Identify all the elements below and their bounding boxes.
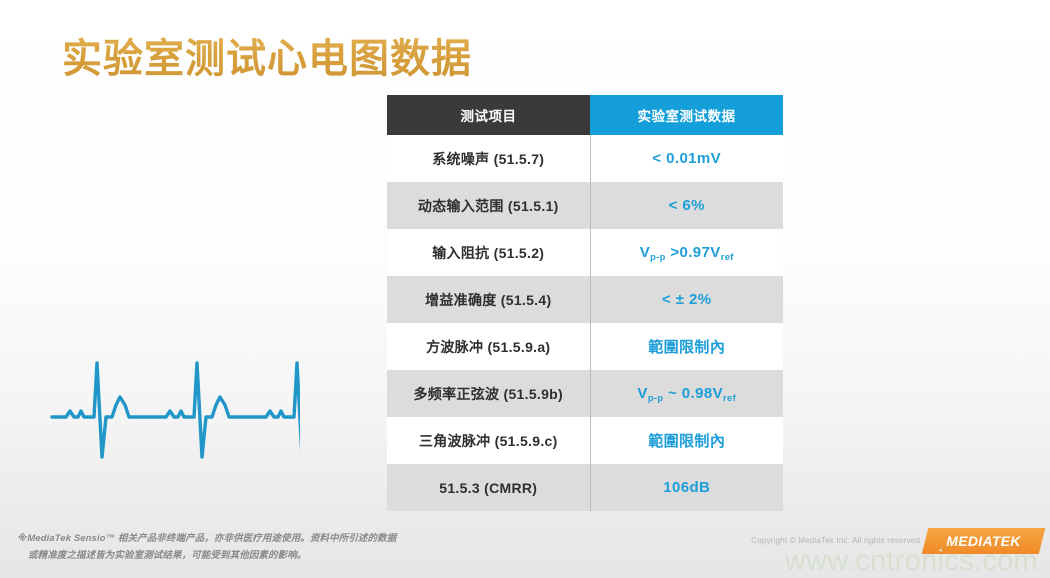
cell-test-item: 三角波脉冲 (51.5.9.c) (387, 417, 590, 464)
cell-test-item: 方波脉冲 (51.5.9.a) (387, 323, 590, 370)
table-row: 增益准确度 (51.5.4)< ± 2% (387, 276, 783, 323)
table-row: 系统噪声 (51.5.7)< 0.01mV (387, 135, 783, 182)
value-subscript-2: ref (721, 252, 734, 262)
column-header-test-item: 测试项目 (387, 95, 590, 135)
table-row: 方波脉冲 (51.5.9.a)範圍限制內 (387, 323, 783, 370)
cell-test-item: 多频率正弦波 (51.5.9b) (387, 370, 590, 417)
cell-test-item: 增益准确度 (51.5.4) (387, 276, 590, 323)
value-middle: ~ 0.98V (663, 385, 723, 402)
table-row: 输入阻抗 (51.5.2)Vp-p >0.97Vref (387, 229, 783, 276)
value-subscript-2: ref (723, 393, 736, 403)
table-row: 三角波脉冲 (51.5.9.c)範圍限制內 (387, 417, 783, 464)
table-row: 动态输入范围 (51.5.1)< 6% (387, 182, 783, 229)
disclaimer-line-1: ※MediaTek Sensio™ 相关产品非终端产品，亦非供医疗用途使用。资料… (18, 533, 396, 544)
value-prefix: V (640, 244, 650, 261)
value-subscript-1: p-p (648, 393, 664, 403)
cell-test-value: Vp-p >0.97Vref (590, 229, 783, 276)
column-header-test-value: 实验室测试数据 (590, 95, 783, 135)
value-prefix: V (637, 385, 647, 402)
cell-test-item: 输入阻抗 (51.5.2) (387, 229, 590, 276)
value-subscript-1: p-p (650, 252, 666, 262)
cell-test-item: 动态输入范围 (51.5.1) (387, 182, 590, 229)
cell-test-value: 範圍限制內 (590, 323, 783, 370)
cell-test-value: < 6% (590, 182, 783, 229)
cell-test-value: Vp-p ~ 0.98Vref (590, 370, 783, 417)
slide-canvas: 实验室测试心电图数据 测试项目 实验室测试数据 系统噪声 (51.5.7)< 0… (0, 0, 1050, 578)
table-body: 系统噪声 (51.5.7)< 0.01mV动态输入范围 (51.5.1)< 6%… (387, 135, 783, 511)
cell-test-value: < 0.01mV (590, 135, 783, 182)
lab-test-results-table: 测试项目 实验室测试数据 系统噪声 (51.5.7)< 0.01mV动态输入范围… (387, 95, 783, 511)
cell-test-item: 系统噪声 (51.5.7) (387, 135, 590, 182)
site-watermark: www.cntronics.com (785, 545, 1038, 578)
copyright-text: Copyright © MediaTek Inc. All rights res… (751, 536, 920, 545)
disclaimer-text: ※MediaTek Sensio™ 相关产品非终端产品，亦非供医疗用途使用。资料… (18, 531, 458, 564)
table-row: 多频率正弦波 (51.5.9b)Vp-p ~ 0.98Vref (387, 370, 783, 417)
cell-test-value: 106dB (590, 464, 783, 511)
cell-test-item: 51.5.3 (CMRR) (387, 464, 590, 511)
table-row: 51.5.3 (CMRR)106dB (387, 464, 783, 511)
cell-test-value: < ± 2% (590, 276, 783, 323)
table-header-row: 测试项目 实验室测试数据 (387, 95, 783, 135)
ecg-waveform-icon (50, 325, 300, 470)
cell-test-value: 範圍限制內 (590, 417, 783, 464)
value-middle: >0.97V (666, 244, 721, 261)
disclaimer-line-2: 或精准度之描述皆为实验室测试结果，可能受到其他因素的影响。 (18, 548, 458, 564)
page-title: 实验室测试心电图数据 (62, 26, 472, 84)
